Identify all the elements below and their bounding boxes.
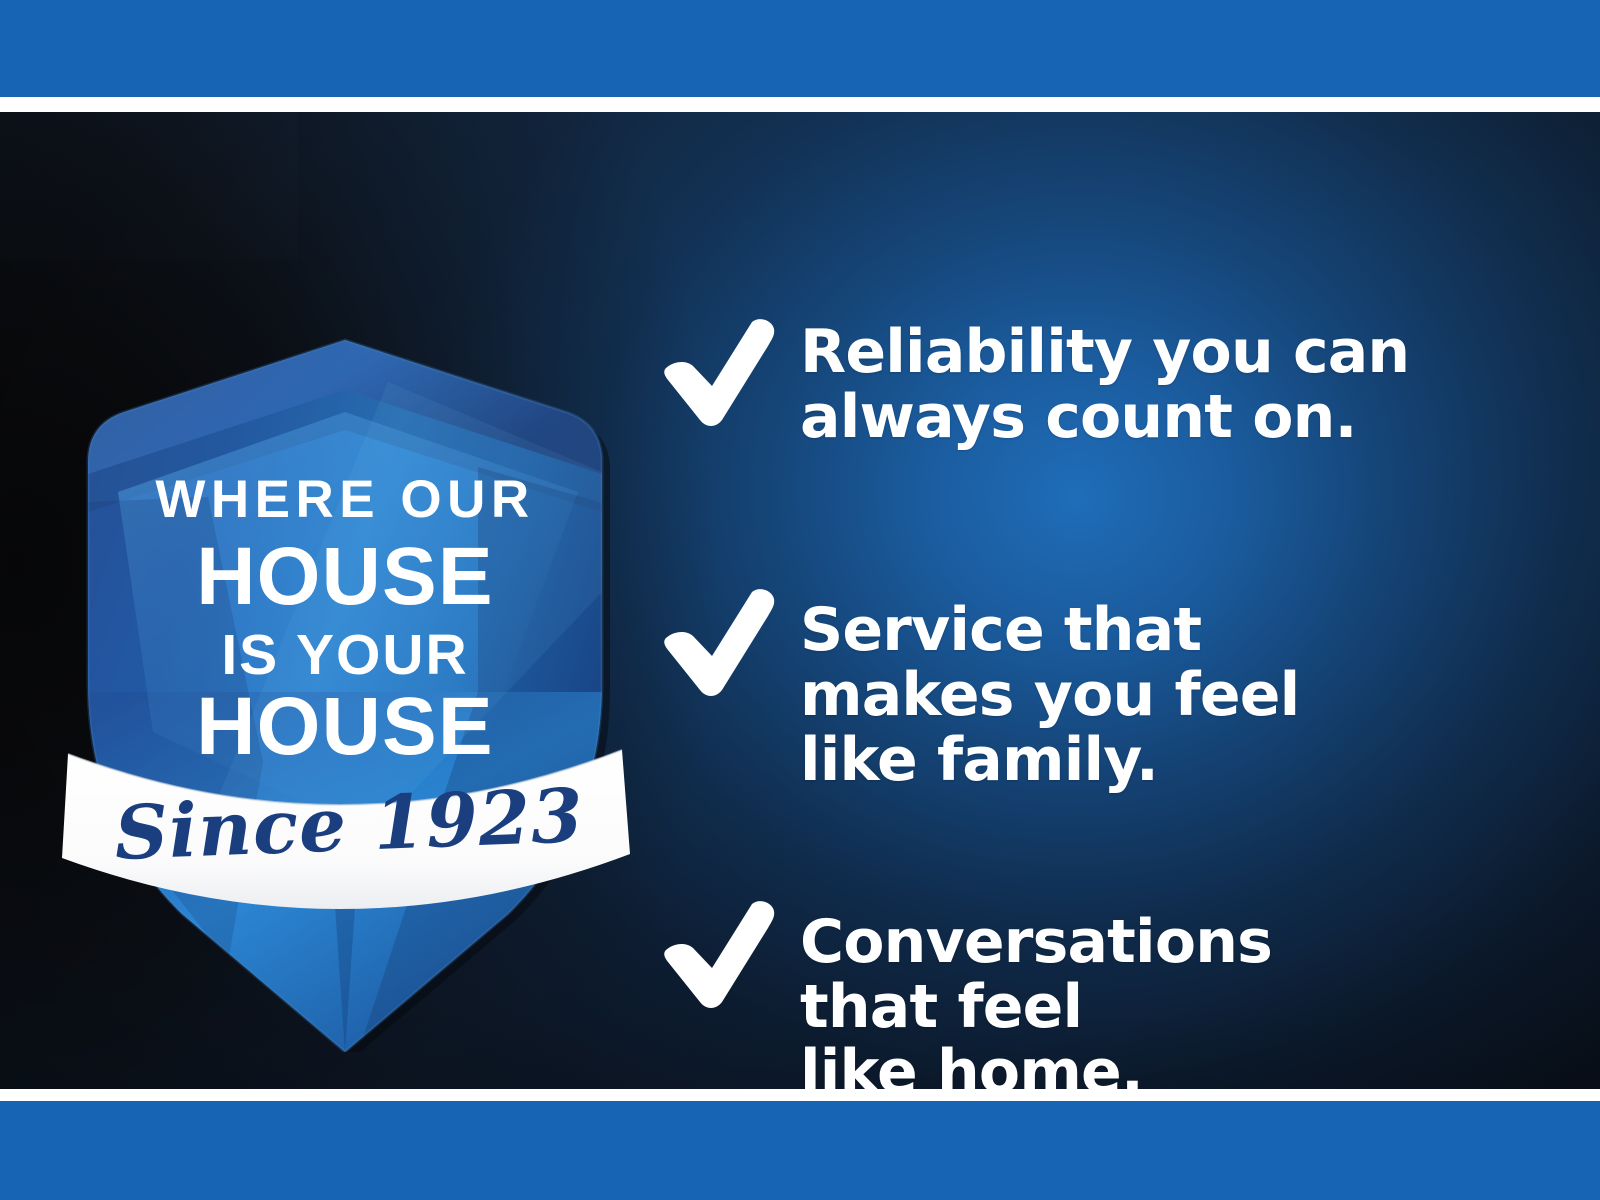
list-item: Reliability you can always count on. (660, 316, 1409, 450)
checkmark-icon (660, 898, 778, 1008)
shield-line-4: HOUSE (196, 681, 494, 772)
panel-noise-texture (0, 112, 298, 260)
bottom-brand-bar (0, 1101, 1600, 1200)
benefits-list: Reliability you can always count on. Ser… (660, 308, 1560, 1089)
list-item: Conversations that feel like home. (660, 898, 1272, 1089)
ribbon-label: Since 1923 (113, 773, 585, 877)
promo-card: WHERE OUR HOUSE IS YOUR HOUSE Since 1923 (0, 0, 1600, 1200)
checkmark-icon (660, 316, 778, 426)
list-item: Service that makes you feel like family. (660, 586, 1299, 793)
list-item-label: Reliability you can always count on. (800, 316, 1409, 450)
checkmark-icon (660, 586, 778, 696)
top-brand-bar (0, 0, 1600, 97)
shield-line-2: HOUSE (196, 531, 494, 622)
main-panel: WHERE OUR HOUSE IS YOUR HOUSE Since 1923 (0, 112, 1600, 1089)
shield-badge-icon: WHERE OUR HOUSE IS YOUR HOUSE Since 1923 (58, 262, 633, 1052)
shield-line-3: IS YOUR (221, 623, 468, 687)
list-item-label: Service that makes you feel like family. (800, 586, 1299, 793)
shield-line-1: WHERE OUR (155, 470, 534, 529)
list-item-label: Conversations that feel like home. (800, 898, 1272, 1089)
